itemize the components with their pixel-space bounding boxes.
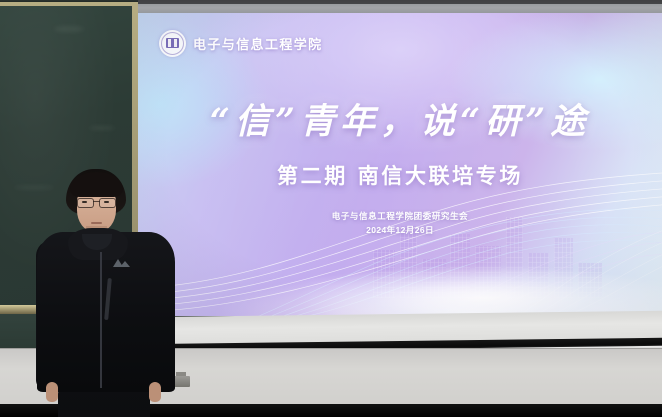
- eyeglasses-icon: [77, 198, 116, 206]
- slide-logo-row: 电子与信息工程学院: [159, 30, 323, 57]
- slide-organizer: 电子与信息工程学院团委研究生会: [138, 210, 662, 222]
- wave-glow-secondary: [274, 235, 662, 316]
- jacket-brand-logo-icon: [113, 258, 131, 267]
- person-fringe: [70, 172, 123, 197]
- standing-person: [30, 160, 180, 417]
- presentation-slide: 电子与信息工程学院 “信”青年，说“研”途 第二期 南信大联培专场 电子与信息工…: [138, 13, 662, 316]
- person-mouth: [91, 222, 102, 224]
- institution-name: 电子与信息工程学院: [193, 34, 323, 53]
- jacket-zipper: [100, 252, 102, 388]
- slide-date: 2024年12月26日: [138, 224, 662, 236]
- slide-sub-title: 第二期 南信大联培专场: [138, 160, 662, 190]
- chalk-smudge: [54, 26, 84, 32]
- person-right-hand: [149, 382, 161, 402]
- wave-graphics: [138, 171, 662, 316]
- screen-housing-shadow: [138, 0, 662, 4]
- classroom-photo-scene: 电子与信息工程学院 “信”青年，说“研”途 第二期 南信大联培专场 电子与信息工…: [0, 0, 662, 417]
- chalk-smudge: [89, 126, 115, 130]
- person-left-hand: [46, 382, 58, 402]
- projection-screen: 电子与信息工程学院 “信”青年，说“研”途 第二期 南信大联培专场 电子与信息工…: [138, 13, 662, 316]
- open-book-emblem-icon: [159, 30, 186, 57]
- slide-main-title: “信”青年，说“研”途: [138, 93, 662, 144]
